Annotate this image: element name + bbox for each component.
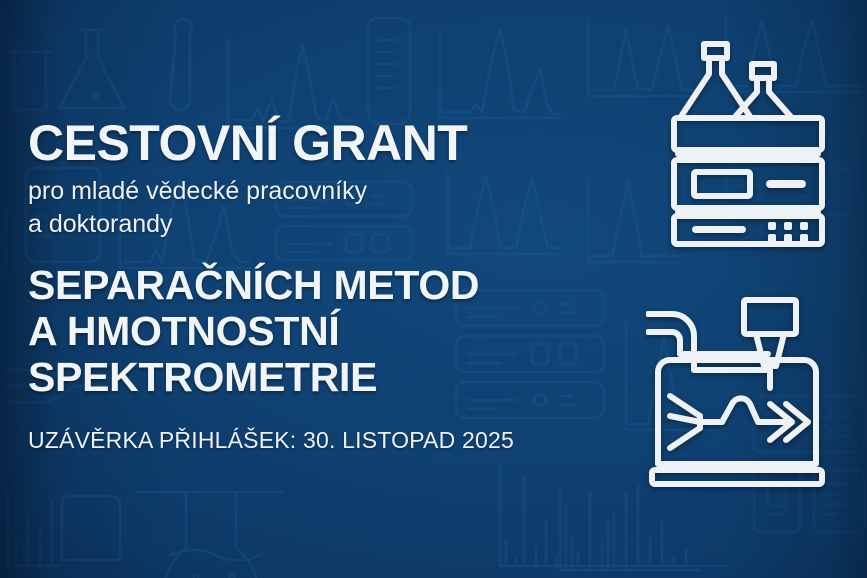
poster-canvas: CESTOVNÍ GRANT pro mladé vědecké pracovn… xyxy=(0,0,867,578)
headline-line-3: SPEKTROMETRIE xyxy=(28,355,588,401)
headline-line-2: A HMOTNOSTNÍ xyxy=(28,309,588,355)
subtitle-line-1: pro mladé vědecké pracovníky xyxy=(28,175,588,208)
hplc-instrument-icon xyxy=(664,34,832,248)
subtitle-line-2: a doktorandy xyxy=(28,208,588,241)
copy-block: CESTOVNÍ GRANT pro mladé vědecké pracovn… xyxy=(28,118,588,454)
headline-line-1: SEPARAČNÍCH METOD xyxy=(28,263,588,309)
mass-spectrometer-icon xyxy=(646,292,836,490)
application-deadline: UZÁVĚRKA PŘIHLÁŠEK: 30. LISTOPAD 2025 xyxy=(28,427,588,454)
poster-title: CESTOVNÍ GRANT xyxy=(28,118,588,169)
headline-block: SEPARAČNÍCH METOD A HMOTNOSTNÍ SPEKTROME… xyxy=(28,263,588,401)
